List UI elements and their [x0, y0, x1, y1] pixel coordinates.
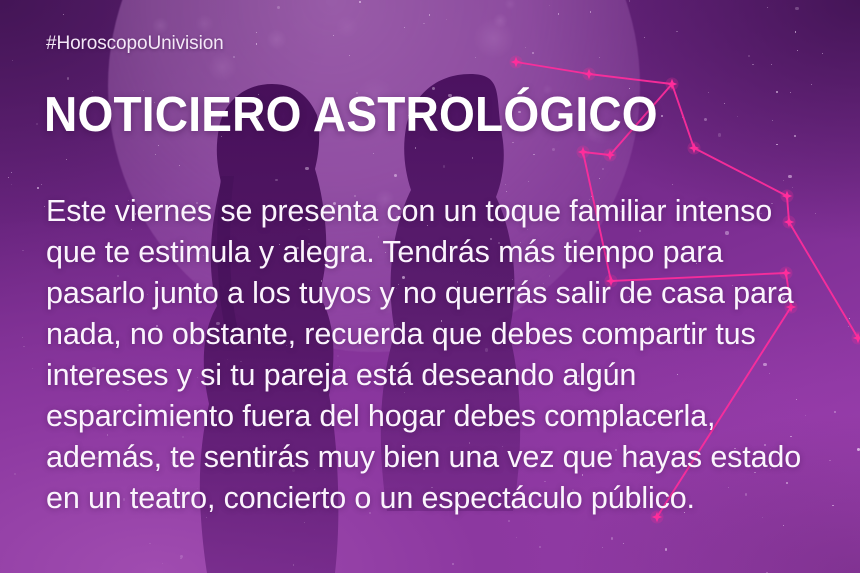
- page-title: NOTICIERO ASTROLÓGICO: [44, 90, 658, 140]
- horoscope-body-text: Este viernes se presenta con un toque fa…: [46, 191, 816, 519]
- content-block: #HoroscopoUnivision NOTICIERO ASTROLÓGIC…: [46, 0, 836, 573]
- hashtag-label: #HoroscopoUnivision: [46, 33, 224, 55]
- horoscope-card: #HoroscopoUnivision NOTICIERO ASTROLÓGIC…: [0, 0, 860, 573]
